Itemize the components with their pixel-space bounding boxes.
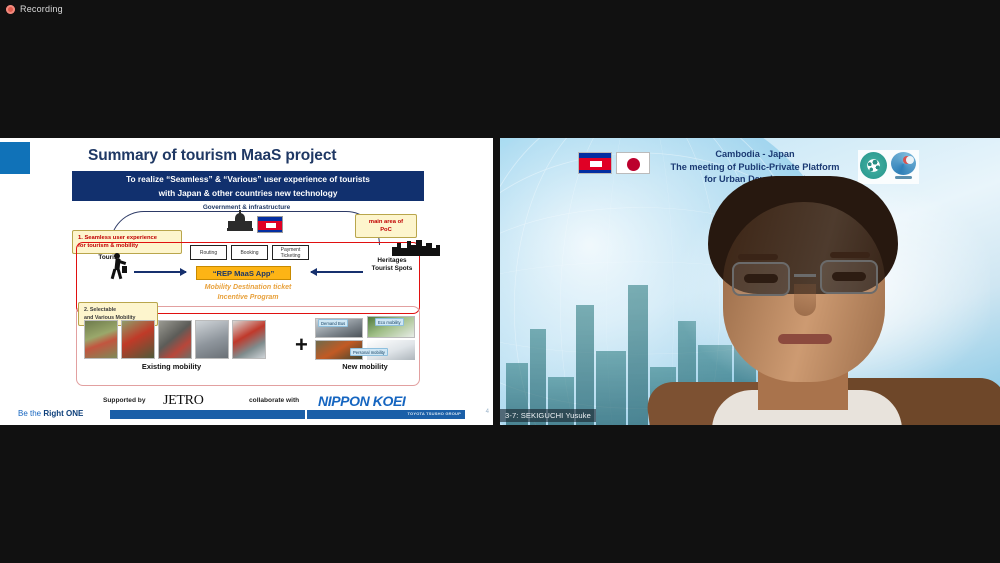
photo-motorbikes [84, 320, 118, 359]
speaker-video-tile[interactable]: Cambodia - Japan The meeting of Public-P… [500, 138, 1000, 425]
speaker-name-label: 3-7: SEKIGUCHI Yusuke [500, 409, 596, 422]
heritage-tourist-spots: Heritages Tourist Spots [363, 256, 421, 273]
banner-line-2: with Japan & other countries new technol… [72, 187, 424, 201]
footer-group-label: TOYOTA TSUSHO GROUP [407, 411, 461, 416]
speaker-glasses-bridge [794, 274, 816, 277]
government-building-icon [228, 213, 252, 233]
recording-dot-icon [6, 5, 15, 14]
recording-label: Recording [20, 4, 63, 14]
banner-line-1: To realize “Seamless” & “Various” user e… [72, 173, 424, 187]
callout-main-area-poc: main area of PoC [355, 214, 417, 238]
jetro-logo: JETRO [163, 393, 204, 409]
speaker-figure [660, 176, 990, 425]
service-chip-payment-ticketing: Payment Ticketing [272, 245, 309, 260]
government-infrastructure-label: Government & infrastructure [0, 204, 493, 211]
organization-logo-globe-icon [860, 152, 887, 179]
recording-bar: Recording [0, 0, 1000, 20]
banner-line-2: The meeting of Public-Private Platform [630, 161, 880, 174]
photo-minivan [195, 320, 229, 359]
arrow-tourist-to-app [134, 271, 186, 273]
cambodia-flag-icon [578, 152, 612, 174]
tag-personal-mobility: Personal mobility [350, 348, 388, 356]
footer-supported-by: Supported by [103, 397, 146, 404]
service-chip-routing: Routing [190, 245, 227, 260]
banner-line-1: Cambodia - Japan [630, 148, 880, 161]
slide-footer: Supported by JETRO collaborate with NIPP… [0, 393, 493, 425]
photo-tuktuk-red [121, 320, 155, 359]
cambodia-flag-icon [257, 216, 283, 233]
speaker-brow-right [830, 252, 870, 258]
footer-blue-bar: TOYOTA TSUSHO GROUP [110, 410, 465, 419]
shared-content-stage: Summary of tourism MaaS project To reali… [0, 138, 1000, 426]
footer-tagline-light: Be the [18, 409, 43, 418]
slide-page-number: 4 [486, 409, 489, 415]
app-sub-labels: Mobility Destination ticket Incentive Pr… [168, 283, 328, 303]
recording-indicator[interactable]: Recording [6, 4, 63, 14]
new-mobility-photos: Demand Bus Eco mobility Personal mobilit… [315, 316, 415, 360]
photo-buses [232, 320, 266, 359]
speaker-mouth [778, 334, 832, 344]
footer-tagline: Be the Right ONE [18, 409, 83, 418]
existing-mobility-label: Existing mobility [84, 362, 259, 371]
photo-tuktuk-street [158, 320, 192, 359]
new-mobility-label: New mobility [315, 362, 415, 371]
tourist-label: Tourist [88, 254, 130, 261]
nippon-koei-logo: NIPPON KOEI [318, 393, 405, 409]
service-chips: Routing Booking Payment Ticketing [190, 245, 309, 260]
meeting-window: Recording Summary of tourism MaaS projec… [0, 0, 1000, 563]
heritage-label: Heritages Tourist Spots [363, 257, 421, 273]
shared-screen-slide[interactable]: Summary of tourism MaaS project To reali… [0, 138, 493, 425]
footer-collaborate-with: collaborate with [249, 397, 299, 404]
footer-tagline-bold: Right ONE [43, 409, 83, 418]
service-chip-booking: Booking [231, 245, 268, 260]
tourist-figure: Tourist [88, 253, 130, 261]
existing-mobility-photos [84, 320, 266, 359]
speaker-eye-right [832, 272, 866, 281]
speaker-brow-left [738, 254, 778, 260]
tag-eco-mobility: Eco mobility [375, 318, 404, 326]
tag-demand-bus: Demand Bus [318, 319, 348, 327]
plus-symbol: + [295, 334, 308, 356]
arrow-heritage-to-app [311, 271, 363, 273]
slide-title: Summary of tourism MaaS project [88, 147, 336, 165]
government-icons [228, 213, 283, 233]
speaker-eye-left [744, 274, 778, 283]
app-sub-line-1: Mobility Destination ticket [168, 283, 328, 293]
rep-maas-app-chip: “REP MaaS App” [196, 266, 291, 280]
slide-accent-square [0, 142, 30, 174]
slide-banner: To realize “Seamless” & “Various” user e… [72, 171, 424, 201]
speaker-nose [794, 284, 816, 316]
app-sub-line-2: Incentive Program [168, 293, 328, 303]
